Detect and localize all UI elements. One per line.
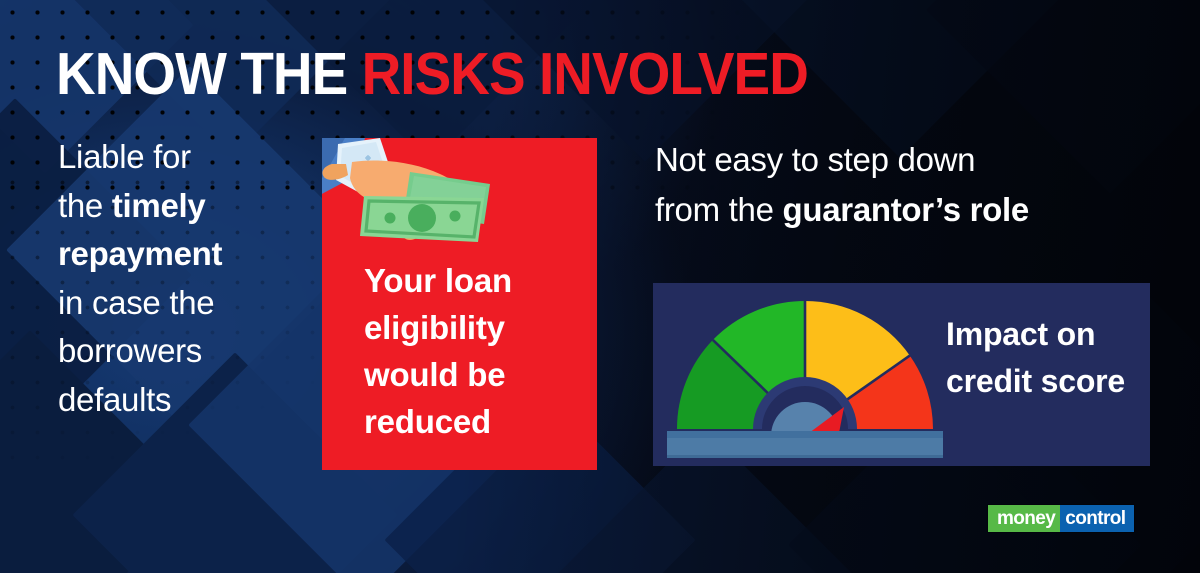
left-line-2-normal: the <box>58 187 112 224</box>
risk-text-right: Not easy to step down from the guarantor… <box>655 135 1155 234</box>
loan-eligibility-card-text: Your loan eligibility would be reduced <box>364 258 583 445</box>
loan-eligibility-card: Your loan eligibility would be reduced <box>322 138 597 470</box>
right-line-2-bold: guarantor’s role <box>783 191 1029 228</box>
credit-score-panel: Impact on credit score <box>653 283 1150 466</box>
gauge-base-bar <box>667 431 943 458</box>
left-line-1: Liable for <box>58 138 191 175</box>
left-line-3-bold: repayment <box>58 235 222 272</box>
credit-score-panel-label: Impact on credit score <box>946 311 1142 406</box>
left-line-2-bold: timely <box>112 187 206 224</box>
logo-money-text: money <box>988 505 1060 532</box>
title-white-part: KNOW THE <box>56 41 362 107</box>
logo-control-text: control <box>1060 505 1134 532</box>
moneycontrol-logo[interactable]: money control <box>988 505 1134 532</box>
risk-text-left: Liable for the timely repayment in case … <box>58 133 320 424</box>
title-red-part: RISKS INVOLVED <box>362 41 808 107</box>
infographic-canvas: KNOW THE RISKS INVOLVED Liable for the t… <box>0 0 1200 573</box>
left-line-5: borrowers <box>58 332 202 369</box>
right-line-1: Not easy to step down <box>655 141 975 178</box>
left-line-6: defaults <box>58 381 171 418</box>
right-line-2-normal: from the <box>655 191 783 228</box>
hand-holding-money-icon <box>322 138 508 260</box>
left-line-4: in case the <box>58 284 214 321</box>
page-title: KNOW THE RISKS INVOLVED <box>56 45 808 104</box>
credit-score-gauge-icon <box>663 289 948 461</box>
